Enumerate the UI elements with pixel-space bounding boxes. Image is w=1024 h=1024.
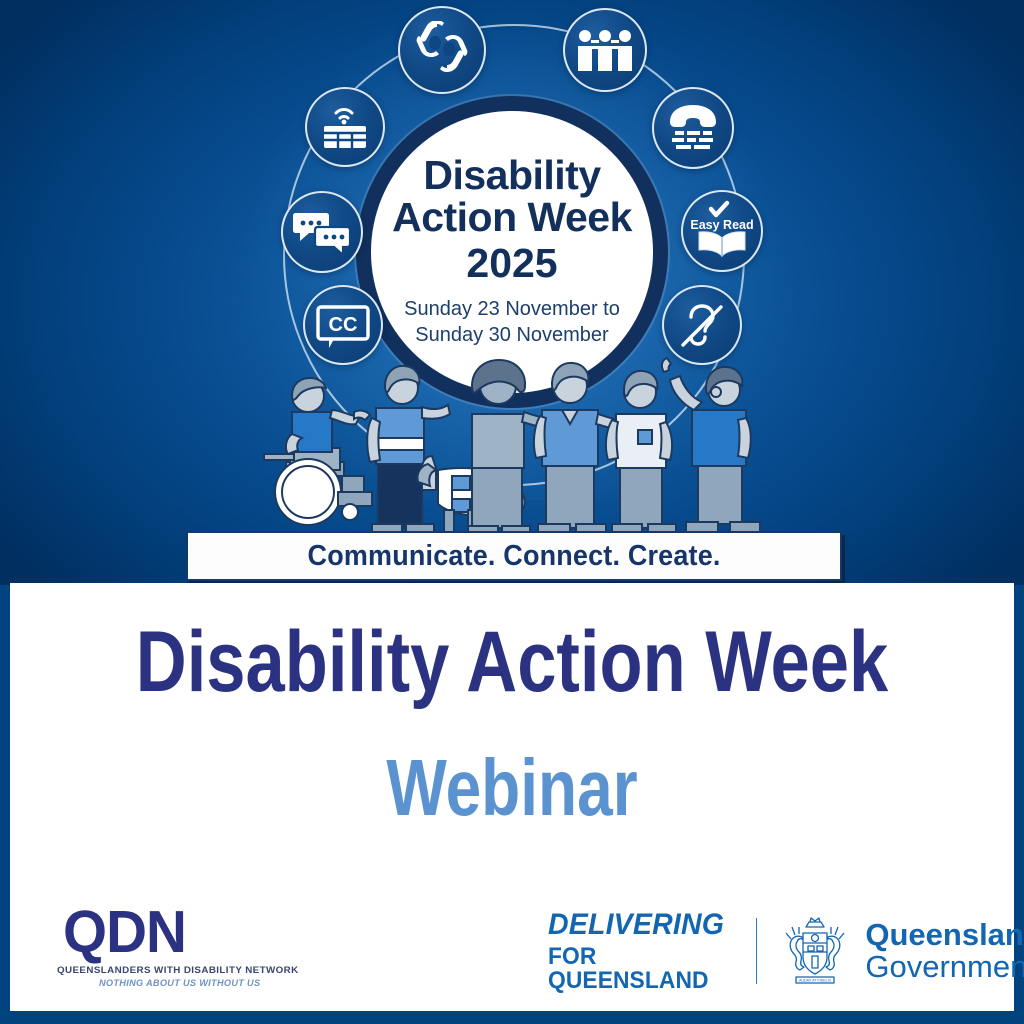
- tty-phone-icon: [652, 87, 734, 169]
- crest-motto: AUDAX AT FIDELIS: [799, 979, 832, 983]
- event-subhead: Webinar: [110, 748, 913, 828]
- event-headline: Disability Action Week: [100, 619, 923, 705]
- logo-divider: [756, 918, 758, 984]
- people-group-icon: [563, 8, 647, 92]
- logo-date-line1: Sunday 23 November to: [404, 297, 620, 323]
- logo-title-line1: Disability: [423, 155, 600, 197]
- artwork-panel: Disability Action Week 2025 Sunday 23 No…: [0, 0, 1024, 585]
- delivering-line1: DELIVERING: [548, 910, 724, 940]
- delivering-for-queensland-logo: DELIVERING FOR QUEENSLAND: [548, 910, 734, 993]
- logo-date-line2: Sunday 30 November: [404, 323, 620, 349]
- queensland-coat-of-arms-icon: AUDAX AT FIDELIS: [779, 915, 851, 987]
- qdn-full-name: QUEENSLANDERS WITH DISABILITY NETWORK: [57, 965, 290, 976]
- qdn-wordmark: QDN: [63, 903, 276, 962]
- svg-text:Easy Read: Easy Read: [690, 218, 753, 232]
- accessible-website-icon: [305, 87, 385, 167]
- group-of-people-illustration: .sk{fill:#c9d3dd;stroke:#1c3a60;stroke-w…: [246, 352, 786, 542]
- sign-language-icon: [398, 6, 486, 94]
- qdn-tagline: NOTHING ABOUT US WITHOUT US: [99, 978, 285, 988]
- svg-text:CC: CC: [329, 314, 358, 336]
- tagline-banner: Communicate. Connect. Create.: [186, 531, 842, 581]
- logo-year: 2025: [466, 239, 557, 287]
- logo-title-line2: Action Week: [392, 197, 632, 239]
- logo-dates: Sunday 23 November to Sunday 30 November: [404, 297, 620, 348]
- speech-bubbles-icon: [281, 191, 363, 273]
- poster: Disability Action Week 2025 Sunday 23 No…: [0, 0, 1024, 1024]
- delivering-line2: FOR QUEENSLAND: [548, 945, 724, 993]
- qdn-logo: QDN QUEENSLANDERS WITH DISABILITY NETWOR…: [55, 903, 285, 991]
- easy-read-icon: Easy Read: [681, 190, 763, 272]
- disability-action-week-logo: Disability Action Week 2025 Sunday 23 No…: [371, 111, 653, 393]
- queensland-government-lockup: DELIVERING FOR QUEENSLAND: [548, 913, 1024, 989]
- qld-gov-line1: Queensland: [865, 919, 1024, 951]
- tagline-text: Communicate. Connect. Create.: [307, 540, 720, 573]
- queensland-government-wordmark: Queensland Government: [865, 919, 1024, 983]
- qld-gov-line2: Government: [865, 951, 1024, 983]
